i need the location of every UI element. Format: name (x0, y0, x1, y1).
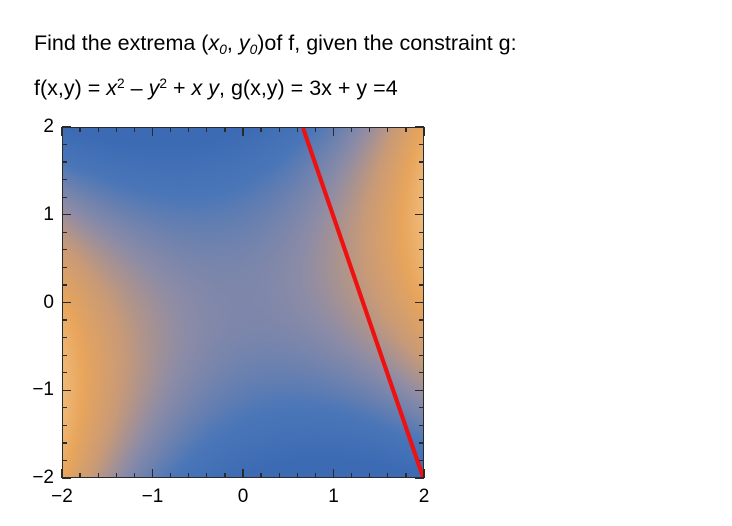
x-axis-tick (279, 473, 280, 478)
y-base: y (149, 76, 160, 100)
x-axis-label-3: 1 (328, 486, 339, 508)
x-axis-label-1: −1 (142, 486, 164, 508)
x-axis-tick (170, 473, 171, 478)
problem-line-1: Find the extrema (x0, y0)of f, given the… (34, 26, 714, 67)
x-axis-tick-top (297, 127, 298, 132)
problem-line-2: f(x,y) = x2 – y2 + x y, g(x,y) = 3x + y … (34, 67, 714, 105)
y-axis-label-4: 2 (16, 116, 54, 138)
x-axis-tick (116, 473, 117, 478)
y-axis-tick (62, 249, 67, 250)
x-axis-tick (297, 473, 298, 478)
y-axis-tick (62, 267, 67, 268)
x-axis-tick (98, 473, 99, 478)
x-axis-tick-top (369, 127, 370, 132)
x-axis-tick (369, 473, 370, 478)
y-axis-tick-right (415, 214, 424, 215)
problem-line1-text-after: )of f, given the constraint g: (257, 31, 516, 55)
g-definition: g(x,y) = 3x + y =4 (231, 76, 398, 100)
y-axis-tick (62, 442, 67, 443)
x-axis-tick-top (315, 127, 316, 132)
y-axis-tick (62, 302, 71, 303)
x-base: x (106, 76, 117, 100)
y-axis-tick (62, 460, 67, 461)
x-exponent: 2 (117, 76, 125, 91)
problem-line1-text-before: Find the extrema ( (34, 31, 208, 55)
plus-operator: + (167, 76, 192, 100)
x-axis-tick-top (423, 127, 424, 136)
x-axis-tick (152, 469, 153, 478)
y-axis-tick-right (419, 460, 424, 461)
x-axis-tick-top (79, 127, 80, 132)
x0-base: x (208, 31, 219, 55)
y-axis-tick (62, 390, 71, 391)
y0-variable: y0 (239, 31, 257, 55)
x-axis-tick-top (279, 127, 280, 132)
y-axis-tick-right (419, 249, 424, 250)
y-axis-tick-right (415, 126, 424, 127)
constraint-line (303, 128, 423, 477)
x-axis-tick (206, 473, 207, 478)
x-axis-tick (405, 473, 406, 478)
y-axis-tick-right (419, 442, 424, 443)
y-axis-tick (62, 425, 67, 426)
x-axis-tick (351, 473, 352, 478)
y-axis-label-2: 0 (16, 292, 54, 314)
x-axis-label-4: 2 (419, 486, 430, 508)
y-axis-tick (62, 232, 67, 233)
minus-operator: – (125, 76, 149, 100)
x-axis-tick-top (116, 127, 117, 132)
x0-variable: x0 (208, 31, 226, 55)
x-axis-tick (188, 473, 189, 478)
x-axis-tick-top (152, 127, 153, 136)
y-axis-tick (62, 319, 67, 320)
y-axis-tick (62, 179, 67, 180)
constraint-line-layer (63, 128, 423, 477)
plot-frame (62, 127, 424, 478)
y-axis-tick-right (419, 319, 424, 320)
x-axis-tick-top (242, 127, 243, 136)
y-axis-tick-right (419, 161, 424, 162)
x-axis-tick-top (333, 127, 334, 136)
x-axis-tick (387, 473, 388, 478)
y-axis-tick-right (419, 179, 424, 180)
y-axis-tick (62, 214, 71, 215)
y-axis-tick (62, 126, 71, 127)
y-axis-tick (62, 407, 67, 408)
x-axis-label-2: 0 (238, 486, 249, 508)
y-axis-tick (62, 161, 67, 162)
x-axis-tick-top (224, 127, 225, 132)
x-axis-tick-top (260, 127, 261, 132)
y-axis-tick-right (419, 267, 424, 268)
x-axis-tick-top (387, 127, 388, 132)
x-axis-tick-top (170, 127, 171, 132)
y-axis-label-3: 1 (16, 204, 54, 226)
x-axis-tick-top (188, 127, 189, 132)
y-axis-tick-right (419, 407, 424, 408)
x-axis-tick (333, 469, 334, 478)
x-axis-tick-top (134, 127, 135, 132)
y-axis-tick-right (415, 302, 424, 303)
x-axis-tick (134, 473, 135, 478)
x-axis-tick (79, 473, 80, 478)
y-axis-tick (62, 337, 67, 338)
expression-separator: , (219, 76, 231, 100)
y-axis-tick-right (415, 390, 424, 391)
x-axis-tick-top (351, 127, 352, 132)
y-exponent: 2 (159, 76, 167, 91)
x-squared-term: x2 (106, 76, 124, 100)
y-axis-tick-right (419, 197, 424, 198)
y0-base: y (239, 31, 250, 55)
y-axis-tick (62, 372, 67, 373)
x-axis-tick (260, 473, 261, 478)
y-squared-term: y2 (149, 76, 167, 100)
problem-statement: Find the extrema (x0, y0)of f, given the… (34, 26, 714, 105)
y-axis-tick (62, 477, 71, 478)
f-definition-prefix: f(x,y) = (34, 76, 106, 100)
x-axis-tick-top (98, 127, 99, 132)
problem-line1-comma: , (227, 31, 239, 55)
y-axis-tick (62, 197, 67, 198)
y-axis-tick (62, 355, 67, 356)
y-axis-tick-right (419, 144, 424, 145)
x-axis-label-0: −2 (51, 486, 73, 508)
x-axis-tick-top (206, 127, 207, 132)
y-axis-tick-right (419, 425, 424, 426)
y-axis-tick-right (419, 284, 424, 285)
x-axis-tick (315, 473, 316, 478)
xy-term: x y (192, 76, 219, 100)
x-axis-tick (242, 469, 243, 478)
x-axis-tick-top (405, 127, 406, 132)
x0-subscript: 0 (219, 42, 227, 57)
y-axis-tick (62, 144, 67, 145)
y-axis-tick-right (419, 355, 424, 356)
x-axis-tick-top (61, 127, 62, 136)
y-axis-tick-right (419, 372, 424, 373)
x-axis-tick (224, 473, 225, 478)
y-axis-label-0: −2 (16, 467, 54, 489)
y-axis-tick-right (415, 477, 424, 478)
y-axis-label-1: −1 (16, 379, 54, 401)
y-axis-tick-right (419, 337, 424, 338)
density-plot-figure: −2−1012−2−1012 (0, 110, 470, 520)
y-axis-tick (62, 284, 67, 285)
y-axis-tick-right (419, 232, 424, 233)
